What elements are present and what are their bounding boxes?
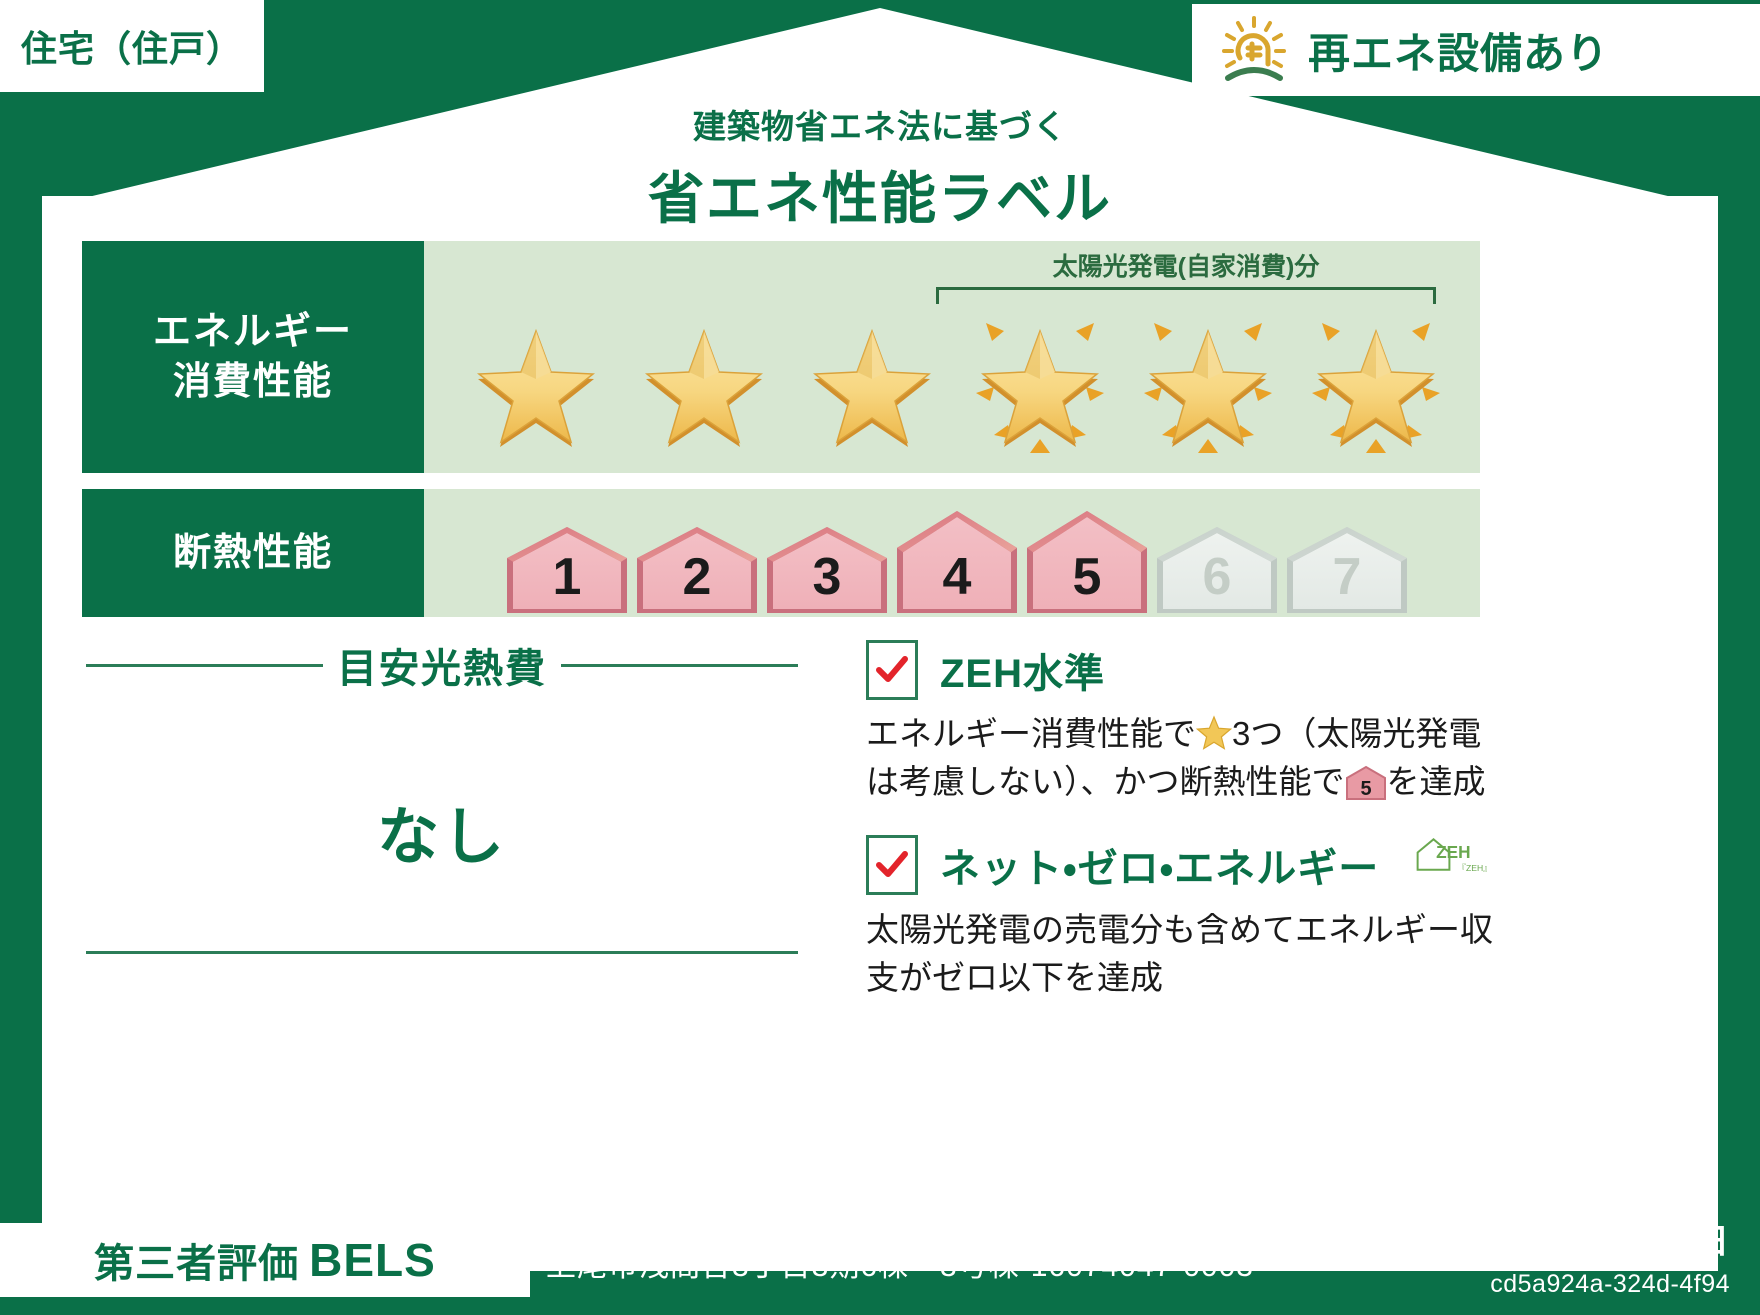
svg-text:『ZEH』: 『ZEH』	[1458, 863, 1492, 873]
claim1-text-part3: を達成	[1387, 763, 1486, 800]
insulation-grade-7: 7	[1283, 525, 1411, 617]
heading-rule-left	[86, 664, 323, 667]
badge-house-type-label: 住宅（住戸）	[21, 20, 243, 72]
claim-net-zero-energy-body: 太陽光発電の売電分も含めてエネルギー収支がゼロ以下を達成	[866, 906, 1496, 1002]
insulation-grade-4: 4	[893, 509, 1021, 617]
energy-label-line2: 消費性能	[173, 357, 333, 407]
star-icon	[1128, 307, 1288, 467]
svg-text:ZEH: ZEH	[1436, 842, 1470, 862]
insulation-performance-label: 断熱性能	[82, 489, 424, 617]
claim-zeh-standard-body: エネルギー消費性能で 3つ（太陽光発電は考慮しない）、かつ断熱性能で 5 を達成	[866, 710, 1496, 806]
insulation-grade-number: 4	[893, 547, 1021, 607]
evaluation-date: 評価日 2025年7月28日	[1370, 1214, 1730, 1263]
label-footer: 第三者評価 BELS 上尾市浅間台3丁目3期6棟 3号棟-16074047-00…	[0, 1207, 1760, 1315]
insulation-performance-row: 断熱性能 1	[82, 489, 1480, 617]
solar-annotation-bracket	[936, 287, 1436, 304]
cost-block-bottom-rule	[86, 951, 798, 954]
estimated-utility-cost-value: なし	[86, 786, 798, 876]
certificate-id: cd5a924a-324d-4f94	[1490, 1270, 1730, 1299]
property-address: 上尾市浅間台3丁目3期6棟 3号棟-16074047-0003	[546, 1241, 1254, 1285]
title-main: 省エネ性能ラベル	[0, 154, 1760, 235]
insulation-grade-number: 1	[503, 547, 631, 607]
badge-house-type: 住宅（住戸）	[0, 0, 264, 92]
badge-renewable-label: 再エネ設備あり	[1308, 20, 1609, 81]
energy-performance-body: 太陽光発電(自家消費)分	[424, 241, 1480, 473]
insulation-grade-6: 6	[1153, 525, 1281, 617]
zeh-claims-block: ZEH水準 エネルギー消費性能で 3つ（太陽光発電は考慮しない）、かつ断熱性能で…	[866, 640, 1496, 1001]
zeh-logo: ZEH 『ZEH』	[1411, 834, 1496, 896]
net-zero-energy-checkbox[interactable]	[866, 835, 918, 895]
bels-mark: 第三者評価 BELS	[0, 1223, 530, 1297]
insulation-grade-number: 5	[1023, 547, 1151, 607]
insulation-grade-number: 3	[763, 547, 891, 607]
energy-star-rating	[424, 307, 1480, 467]
insulation-label-text: 断熱性能	[173, 528, 333, 578]
bels-energy-label: 住宅（住戸） 再エ	[0, 0, 1760, 1315]
title-subtitle: 建築物省エネ法に基づく	[0, 100, 1760, 148]
energy-performance-row: エネルギー 消費性能 太陽光発電(自家消費)分	[82, 241, 1480, 473]
insulation-grade-scale: 1 2	[424, 509, 1480, 617]
sun-plug-icon	[1218, 14, 1290, 86]
bels-en-label: BELS	[309, 1233, 436, 1287]
label-title-block: 建築物省エネ法に基づく 省エネ性能ラベル	[0, 100, 1760, 235]
solar-annotation: 太陽光発電(自家消費)分	[936, 247, 1436, 304]
insulation-grade-number: 2	[633, 547, 761, 607]
star-icon	[624, 307, 784, 467]
claim-zeh-standard-header: ZEH水準	[866, 640, 1496, 700]
claim-zeh-standard: ZEH水準 エネルギー消費性能で 3つ（太陽光発電は考慮しない）、かつ断熱性能で…	[866, 640, 1496, 806]
insulation-grade-2: 2	[633, 525, 761, 617]
insulation-grade-1: 1	[503, 525, 631, 617]
zeh-standard-checkbox[interactable]	[866, 640, 918, 700]
inline-star-icon	[1196, 715, 1232, 751]
insulation-performance-body: 1 2	[424, 489, 1480, 617]
insulation-grade-5: 5	[1023, 509, 1151, 617]
claim-net-zero-energy: ネット・ゼロ・エネルギー ZEH 『ZEH』 太陽光発電の売電分も含めてエネルギ…	[866, 834, 1496, 1002]
estimated-utility-cost-title: 目安光熱費	[337, 636, 547, 694]
check-icon	[875, 848, 909, 882]
insulation-grade-number: 6	[1153, 547, 1281, 607]
claim1-text-part1: エネルギー消費性能で	[866, 715, 1196, 752]
star-icon	[456, 307, 616, 467]
insulation-grade-3: 3	[763, 525, 891, 617]
energy-label-line1: エネルギー	[153, 307, 353, 357]
insulation-grade-number: 7	[1283, 547, 1411, 607]
inline-house-grade-icon: 5	[1345, 765, 1387, 801]
badge-renewable-equipment: 再エネ設備あり	[1192, 4, 1760, 96]
star-icon	[792, 307, 952, 467]
claim-zeh-standard-title: ZEH水準	[940, 641, 1105, 699]
claim-net-zero-energy-title: ネット・ゼロ・エネルギー	[940, 836, 1379, 894]
star-icon	[960, 307, 1120, 467]
check-icon	[875, 653, 909, 687]
svg-text:5: 5	[1360, 778, 1371, 800]
solar-annotation-text: 太陽光発電(自家消費)分	[936, 247, 1436, 283]
estimated-utility-cost-heading: 目安光熱費	[86, 636, 798, 694]
bels-jp-label: 第三者評価	[94, 1231, 299, 1289]
estimated-utility-cost-block: 目安光熱費 なし	[86, 636, 798, 876]
energy-performance-label: エネルギー 消費性能	[82, 241, 424, 473]
claim-net-zero-energy-header: ネット・ゼロ・エネルギー ZEH 『ZEH』	[866, 834, 1496, 896]
heading-rule-right	[561, 664, 798, 667]
star-icon	[1296, 307, 1456, 467]
